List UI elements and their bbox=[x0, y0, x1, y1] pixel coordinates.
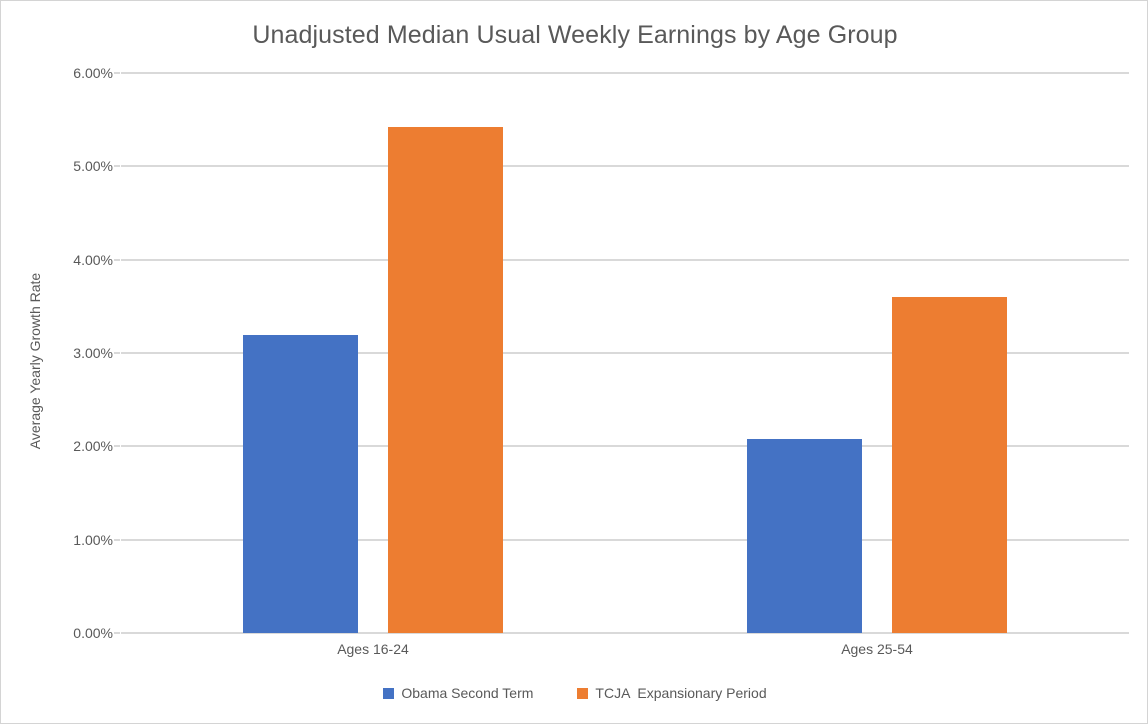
gridline bbox=[121, 165, 1129, 167]
legend-item[interactable]: TCJA Expansionary Period bbox=[577, 685, 766, 701]
y-axis-tick-labels: 6.00%5.00%4.00%3.00%2.00%1.00%0.00% bbox=[35, 73, 113, 633]
y-axis-tick bbox=[114, 539, 120, 541]
legend-swatch-icon bbox=[383, 688, 394, 699]
y-axis-tick bbox=[114, 632, 120, 634]
x-axis-category-labels: Ages 16-24Ages 25-54 bbox=[121, 641, 1129, 669]
legend-item[interactable]: Obama Second Term bbox=[383, 685, 533, 701]
gridline bbox=[121, 259, 1129, 261]
legend-label: Obama Second Term bbox=[401, 685, 533, 701]
y-axis-tick-label: 4.00% bbox=[43, 252, 113, 268]
y-axis-tick bbox=[114, 165, 120, 167]
x-axis-category-label: Ages 25-54 bbox=[625, 641, 1129, 657]
chart-legend: Obama Second TermTCJA Expansionary Perio… bbox=[1, 685, 1148, 701]
y-axis-tick bbox=[114, 259, 120, 261]
bar[interactable] bbox=[892, 297, 1007, 633]
y-axis-tick bbox=[114, 445, 120, 447]
legend-swatch-icon bbox=[577, 688, 588, 699]
bar[interactable] bbox=[388, 127, 503, 633]
y-axis-tick-label: 3.00% bbox=[43, 345, 113, 361]
y-axis-tick-label: 2.00% bbox=[43, 438, 113, 454]
bar[interactable] bbox=[243, 335, 358, 633]
y-axis-tick-label: 6.00% bbox=[43, 65, 113, 81]
y-axis-tick bbox=[114, 352, 120, 354]
y-axis-tick bbox=[114, 72, 120, 74]
legend-label: TCJA Expansionary Period bbox=[595, 685, 766, 701]
y-axis-tick-label: 5.00% bbox=[43, 158, 113, 174]
chart-title: Unadjusted Median Usual Weekly Earnings … bbox=[1, 21, 1148, 50]
gridline bbox=[121, 72, 1129, 74]
chart-container: Unadjusted Median Usual Weekly Earnings … bbox=[0, 0, 1148, 724]
plot-area bbox=[121, 73, 1129, 633]
x-axis-category-label: Ages 16-24 bbox=[121, 641, 625, 657]
bar[interactable] bbox=[747, 439, 862, 633]
y-axis-tick-label: 0.00% bbox=[43, 625, 113, 641]
y-axis-tick-label: 1.00% bbox=[43, 532, 113, 548]
